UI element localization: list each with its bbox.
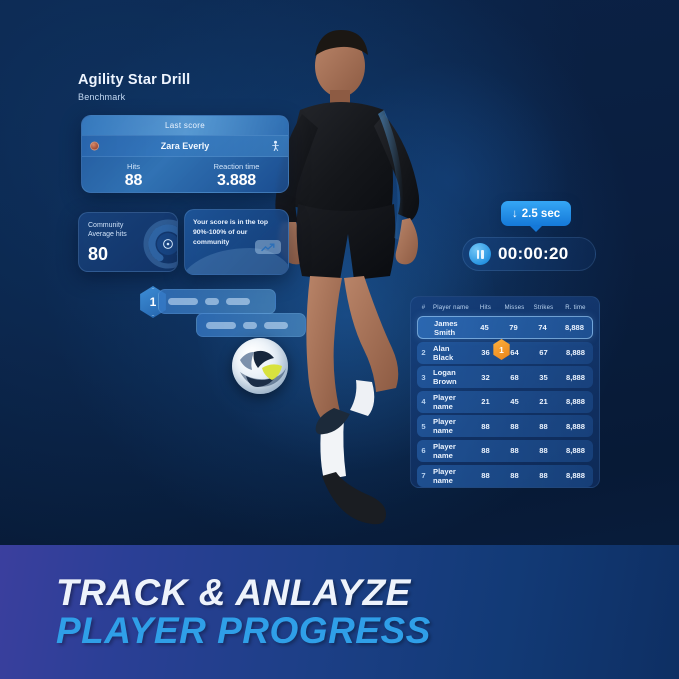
rtime-cell: 8,888: [558, 422, 593, 431]
hits-cell: 88: [471, 422, 500, 431]
misses-cell: 88: [500, 471, 529, 480]
strikes-cell: 35: [529, 373, 558, 382]
page-title-block: Agility Star Drill Benchmark: [78, 72, 190, 102]
countdown-badge[interactable]: ↓ 2.5 sec: [501, 201, 571, 226]
misses-cell: 88: [500, 422, 529, 431]
player-name-cell: James Smith: [431, 319, 470, 337]
rtime-cell: 8,888: [558, 373, 593, 382]
skeleton-pill: [205, 298, 219, 305]
player-name-cell: Player name: [430, 467, 471, 485]
rtime-cell: 8,888: [557, 323, 592, 332]
pause-bar: [477, 250, 480, 259]
leaderboard-rank-badge-value: 1: [499, 345, 504, 355]
banner-headline-secondary: PLAYER PROGRESS: [56, 612, 679, 650]
avatar-dot-icon: [90, 142, 99, 151]
rank-cell: 7: [417, 471, 430, 480]
hits-cell: 45: [470, 323, 499, 332]
pause-bar: [481, 250, 484, 259]
leaderboard-panel: # Player name Hits Misses Strikes R. tim…: [410, 296, 600, 488]
rtime-cell: 8,888: [558, 446, 593, 455]
hits-cell: 21: [471, 397, 500, 406]
stat-reaction-time-label: Reaction time: [214, 162, 260, 171]
column-header-hits: Hits: [471, 305, 500, 311]
gauge-ring: [143, 219, 178, 269]
rank-cell: 6: [417, 446, 430, 455]
table-row[interactable]: 3Logan Brown3268358,888: [417, 366, 593, 388]
player-name-cell: Player name: [430, 442, 471, 460]
player-name-cell: Logan Brown: [430, 368, 471, 386]
player-name: Zara Everly: [161, 141, 210, 151]
last-score-heading: Last score: [82, 116, 288, 135]
promo-banner: TRACK & ANLAYZE PLAYER PROGRESS: [0, 545, 679, 679]
soccer-ball: [232, 338, 288, 394]
strikes-cell: 74: [528, 323, 557, 332]
community-label-line1: Community: [88, 222, 123, 229]
misses-cell: 45: [500, 397, 529, 406]
community-average-card[interactable]: Community Average hits 80: [78, 212, 178, 272]
table-row[interactable]: 4Player name2145218,888: [417, 391, 593, 413]
community-label-line2: Average hits: [88, 231, 127, 238]
rank-badge-value: 1: [150, 295, 157, 309]
last-score-card[interactable]: Last score Zara Everly Hits 88 Reaction …: [81, 115, 289, 193]
player-name-cell: Player name: [430, 393, 471, 411]
rank-cell: 3: [417, 373, 430, 382]
rtime-cell: 8,888: [558, 471, 593, 480]
misses-cell: 68: [500, 373, 529, 382]
hits-cell: 88: [471, 446, 500, 455]
strikes-cell: 67: [529, 348, 558, 357]
arrow-down-icon: ↓: [512, 208, 518, 220]
leaderboard-header-row: # Player name Hits Misses Strikes R. tim…: [417, 300, 593, 316]
stat-hits: Hits 88: [82, 157, 185, 193]
table-row[interactable]: 6Player name8888888,888: [417, 440, 593, 462]
strikes-cell: 21: [529, 397, 558, 406]
page-title: Agility Star Drill: [78, 72, 190, 88]
hits-cell: 32: [471, 373, 500, 382]
percentile-text: Your score is in the top 90%-100% of our…: [193, 218, 280, 249]
column-header-name: Player name: [430, 305, 471, 311]
rtime-cell: 8,888: [558, 348, 593, 357]
timer-widget: 00:00:20: [462, 237, 596, 271]
stat-reaction-time-value: 3.888: [217, 172, 256, 190]
skeleton-row: [196, 313, 306, 337]
skeleton-row: [158, 289, 276, 314]
strikes-cell: 88: [529, 471, 558, 480]
table-row[interactable]: 7Player name8888888,888: [417, 465, 593, 487]
strikes-cell: 88: [529, 422, 558, 431]
table-row[interactable]: James Smith4579748,888: [417, 316, 593, 339]
community-average-value: 80: [88, 244, 108, 265]
pause-icon[interactable]: [469, 243, 491, 265]
stat-reaction-time: Reaction time 3.888: [185, 157, 288, 193]
skeleton-pill: [226, 298, 250, 305]
player-name-cell: Alan Black: [430, 344, 471, 362]
stat-hits-label: Hits: [127, 162, 140, 171]
column-header-misses: Misses: [500, 305, 529, 311]
page-subtitle: Benchmark: [78, 92, 190, 102]
strikes-cell: 88: [529, 446, 558, 455]
misses-cell: 88: [500, 446, 529, 455]
hits-cell: 88: [471, 471, 500, 480]
column-header-strikes: Strikes: [529, 305, 558, 311]
rank-cell: 5: [417, 422, 430, 431]
misses-cell: 79: [499, 323, 528, 332]
last-score-player-row[interactable]: Zara Everly: [82, 135, 288, 157]
percentile-card[interactable]: Your score is in the top 90%-100% of our…: [184, 209, 289, 275]
skeleton-pill: [206, 322, 236, 329]
skeleton-pill: [243, 322, 257, 329]
banner-headline-primary: TRACK & ANLAYZE: [56, 574, 679, 612]
app-screenshot: Agility Star Drill Benchmark Last score …: [0, 0, 679, 679]
player-name-cell: Player name: [430, 417, 471, 435]
last-score-stats: Hits 88 Reaction time 3.888: [82, 157, 288, 193]
column-header-rtime: R. time: [558, 305, 593, 311]
rtime-cell: 8,888: [558, 397, 593, 406]
skeleton-pill: [168, 298, 198, 305]
stat-hits-value: 88: [125, 172, 142, 190]
rank-cell: 4: [417, 397, 430, 406]
skeleton-pill: [264, 322, 288, 329]
rank-cell: 2: [417, 348, 430, 357]
column-header-rank: #: [417, 305, 430, 311]
timer-value: 00:00:20: [498, 244, 568, 264]
table-row[interactable]: 5Player name8888888,888: [417, 415, 593, 437]
countdown-label: 2.5 sec: [522, 208, 560, 220]
runner-icon: [271, 141, 280, 152]
